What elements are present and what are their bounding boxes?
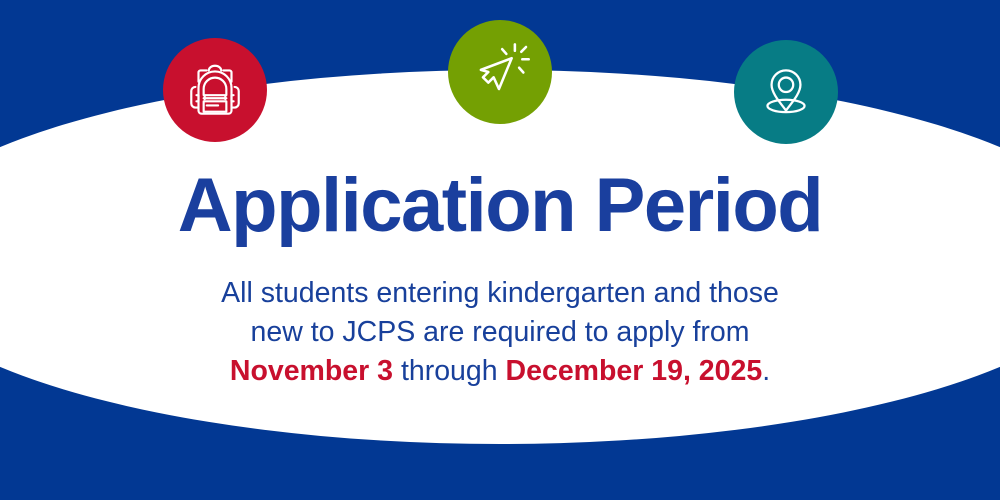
page-title: Application Period [0,164,1000,248]
body-line-2: new to JCPS are required to apply from [0,313,1000,352]
banner-text-block: Application Period All students entering… [0,0,1000,500]
body-line-3: November 3 through December 19, 2025. [0,352,1000,391]
connector-word: through [401,355,498,387]
body-line-1: All students entering kindergarten and t… [0,274,1000,313]
date-connector [393,355,401,387]
end-date: December 19, 2025 [506,355,763,387]
spacer-2 [498,355,506,387]
sentence-terminator: . [762,355,770,387]
start-date: November 3 [230,355,393,387]
application-period-banner: Application Period All students entering… [0,0,1000,500]
banner-body-text: All students entering kindergarten and t… [0,274,1000,391]
